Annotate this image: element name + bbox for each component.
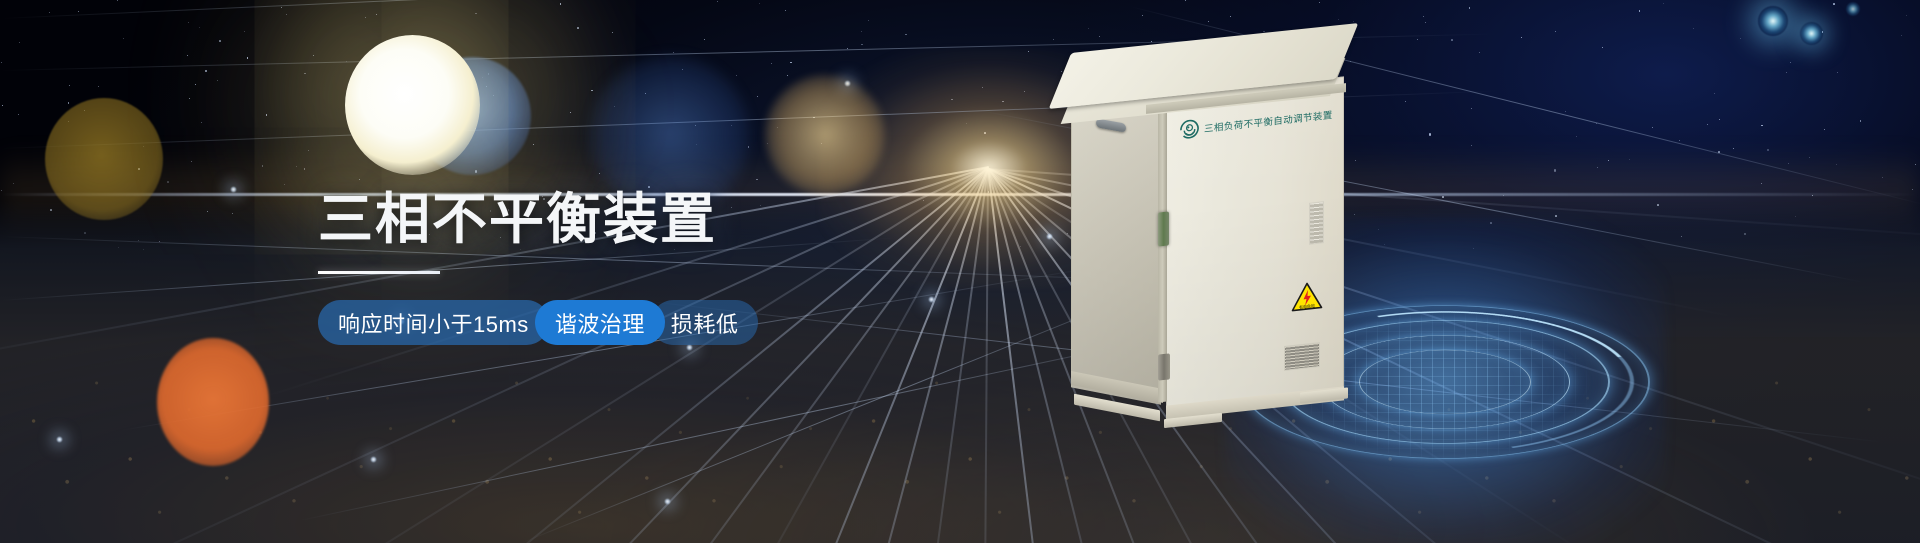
network-mesh — [0, 0, 1920, 543]
bokeh-amber-dim — [45, 98, 163, 220]
lens-flare-icon — [1758, 6, 1788, 36]
network-line — [0, 0, 1399, 19]
network-node — [56, 436, 63, 443]
lens-flare-icon — [1846, 2, 1860, 16]
circular-emblem-icon — [1180, 119, 1199, 140]
cabinet-hinge-lower — [1158, 353, 1170, 380]
feature-badge-low-loss[interactable]: 损耗低 — [651, 300, 759, 345]
network-node — [230, 186, 237, 193]
lens-flare-icon — [1800, 22, 1823, 45]
network-node — [1046, 233, 1053, 240]
feature-badge-response-time[interactable]: 响应时间小于15ms — [318, 300, 549, 345]
bokeh-white — [345, 35, 480, 175]
title-divider — [318, 271, 440, 274]
banner-title: 三相不平衡装置 — [318, 190, 938, 249]
hero-banner: 三相负荷不平衡自动调节装置 有电危险 三相不平衡装置 响应时间小于15ms 谐波… — [0, 0, 1920, 543]
network-node — [664, 498, 671, 505]
bokeh-amber — [765, 75, 885, 195]
bokeh-orange — [157, 338, 269, 466]
feature-badge-row: 响应时间小于15ms 谐波治理 损耗低 — [318, 300, 938, 345]
cabinet-bottom-vent — [1284, 342, 1320, 371]
feature-badge-harmonic[interactable]: 谐波治理 — [535, 300, 665, 345]
network-node — [370, 456, 377, 463]
product-cabinet: 三相负荷不平衡自动调节装置 有电危险 — [1060, 24, 1360, 444]
electrical-hazard-sticker: 有电危险 — [1291, 280, 1323, 312]
cabinet-lock — [1158, 211, 1169, 246]
cabinet-side-vent — [1309, 201, 1324, 245]
banner-content: 三相不平衡装置 响应时间小于15ms 谐波治理 损耗低 — [318, 190, 938, 345]
